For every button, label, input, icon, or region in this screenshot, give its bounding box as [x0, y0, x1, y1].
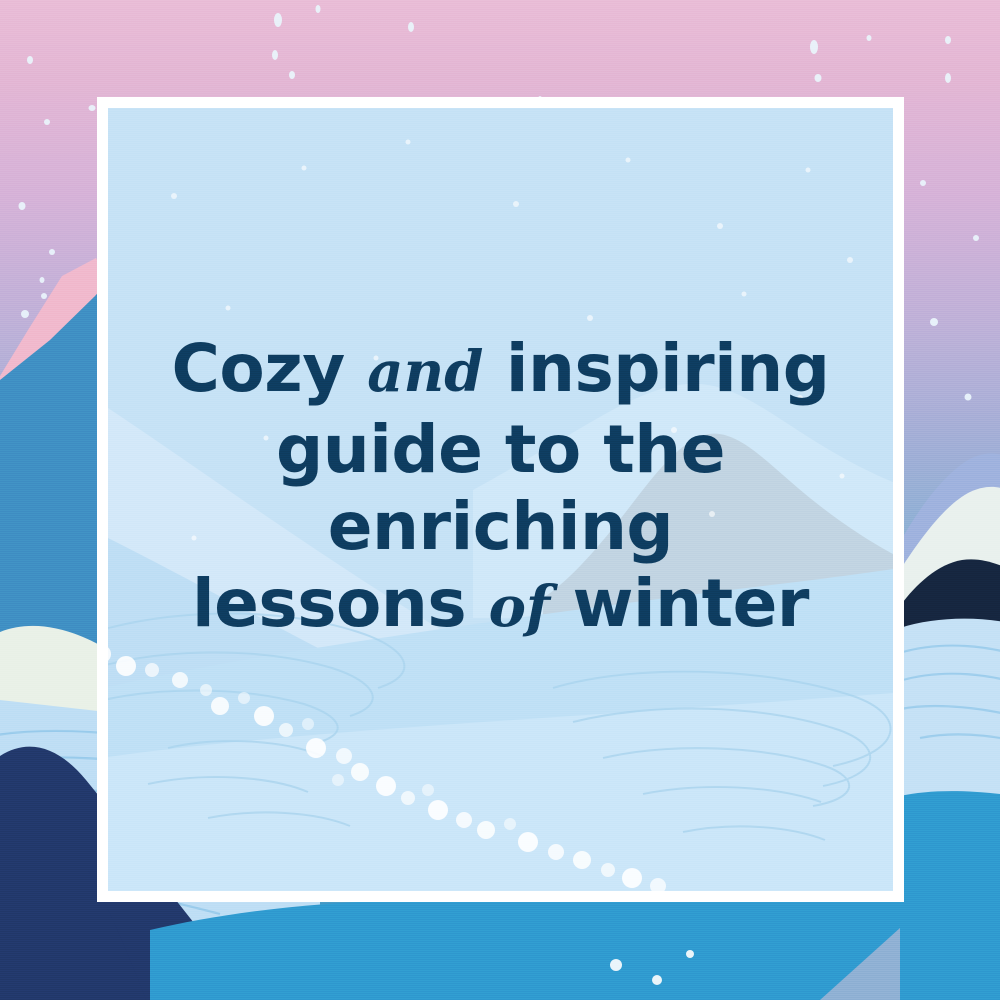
- headline-line-2: guide to the: [108, 411, 893, 488]
- headline-line-1-part-a: Cozy: [172, 330, 368, 407]
- headline-line-4-part-a: lessons: [192, 565, 489, 642]
- headline-block: Cozy and inspiring guide to the enrichin…: [108, 330, 893, 646]
- headline-line-1: Cozy and inspiring: [108, 330, 893, 411]
- headline-line-3: enriching: [108, 488, 893, 565]
- headline-line-4-part-b: winter: [550, 565, 809, 642]
- right-water-band: [900, 790, 1000, 1000]
- white-frame-border: Cozy and inspiring guide to the enrichin…: [97, 97, 904, 902]
- headline-line-4-emphasis: of: [489, 574, 550, 640]
- headline-line-4: lessons of winter: [108, 565, 893, 646]
- headline-line-1-emphasis: and: [367, 339, 483, 405]
- winter-quote-poster: Cozy and inspiring guide to the enrichin…: [0, 0, 1000, 1000]
- inner-panel: Cozy and inspiring guide to the enrichin…: [108, 108, 893, 891]
- headline-line-1-part-b: inspiring: [483, 330, 829, 407]
